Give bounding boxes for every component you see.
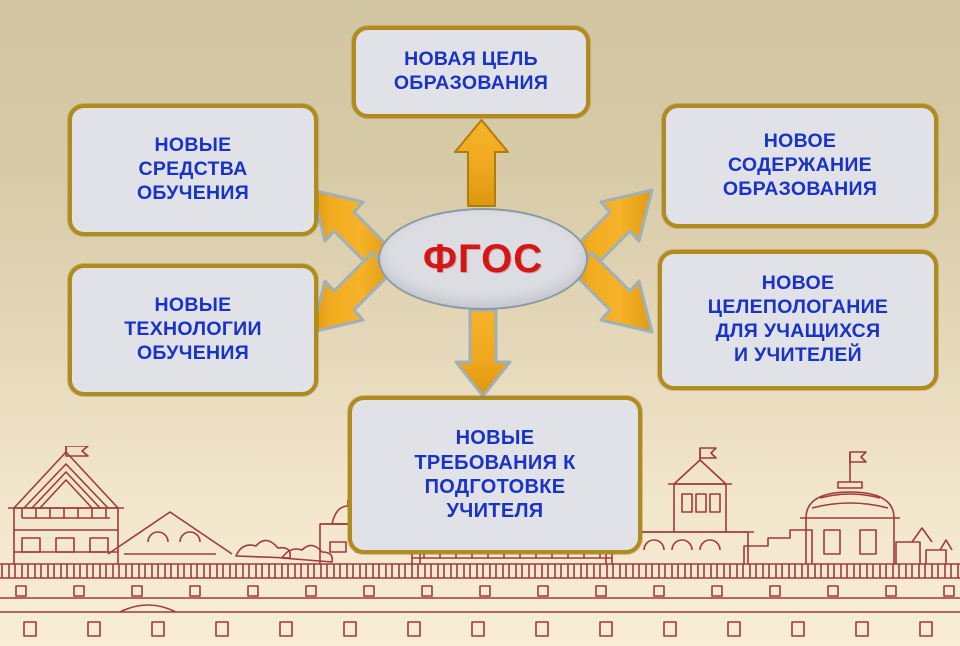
node-tech-line3: ОБУЧЕНИЯ [116,342,270,366]
node-teacher-line1: НОВЫЕ [406,426,583,450]
node-goalset-line4: И УЧИТЕЛЕЙ [700,344,896,368]
node-means-line2: СРЕДСТВА [129,158,257,182]
node-goal-line2: ОБРАЗОВАНИЯ [386,72,556,96]
node-tech-line2: ТЕХНОЛОГИИ [116,318,270,342]
node-content-line3: ОБРАЗОВАНИЯ [715,178,885,202]
node-goalset-line2: ЦЕЛЕПОЛОГАНИЕ [700,296,896,320]
node-goalset-line3: ДЛЯ УЧАЩИХСЯ [700,320,896,344]
arrow-up [455,120,508,206]
node-teacher-line4: УЧИТЕЛЯ [406,499,583,523]
node-box-content[interactable]: НОВОЕ СОДЕРЖАНИЕ ОБРАЗОВАНИЯ [662,104,938,228]
node-goal-line1: НОВАЯ ЦЕЛЬ [386,48,556,72]
node-content-line2: СОДЕРЖАНИЕ [715,154,885,178]
node-box-technologies[interactable]: НОВЫЕ ТЕХНОЛОГИИ ОБУЧЕНИЯ [68,264,318,396]
node-content-line1: НОВОЕ [715,130,885,154]
node-box-teacher-training[interactable]: НОВЫЕ ТРЕБОВАНИЯ К ПОДГОТОВКЕ УЧИТЕЛЯ [348,396,642,554]
node-teacher-line3: ПОДГОТОВКЕ [406,475,583,499]
diagram-canvas: НОВАЯ ЦЕЛЬ ОБРАЗОВАНИЯ НОВЫЕ СРЕДСТВА ОБ… [0,0,960,646]
center-node-fgos[interactable]: ФГОС [378,208,588,310]
node-box-means[interactable]: НОВЫЕ СРЕДСТВА ОБУЧЕНИЯ [68,104,318,236]
node-box-goalsetting[interactable]: НОВОЕ ЦЕЛЕПОЛОГАНИЕ ДЛЯ УЧАЩИХСЯ И УЧИТЕ… [658,250,938,390]
node-means-line3: ОБУЧЕНИЯ [129,182,257,206]
node-tech-line1: НОВЫЕ [116,294,270,318]
node-goalset-line1: НОВОЕ [700,272,896,296]
node-means-line1: НОВЫЕ [129,134,257,158]
arrow-down [456,310,510,396]
node-teacher-line2: ТРЕБОВАНИЯ К [406,451,583,475]
node-box-goal[interactable]: НОВАЯ ЦЕЛЬ ОБРАЗОВАНИЯ [352,26,590,118]
center-node-label: ФГОС [423,237,543,282]
